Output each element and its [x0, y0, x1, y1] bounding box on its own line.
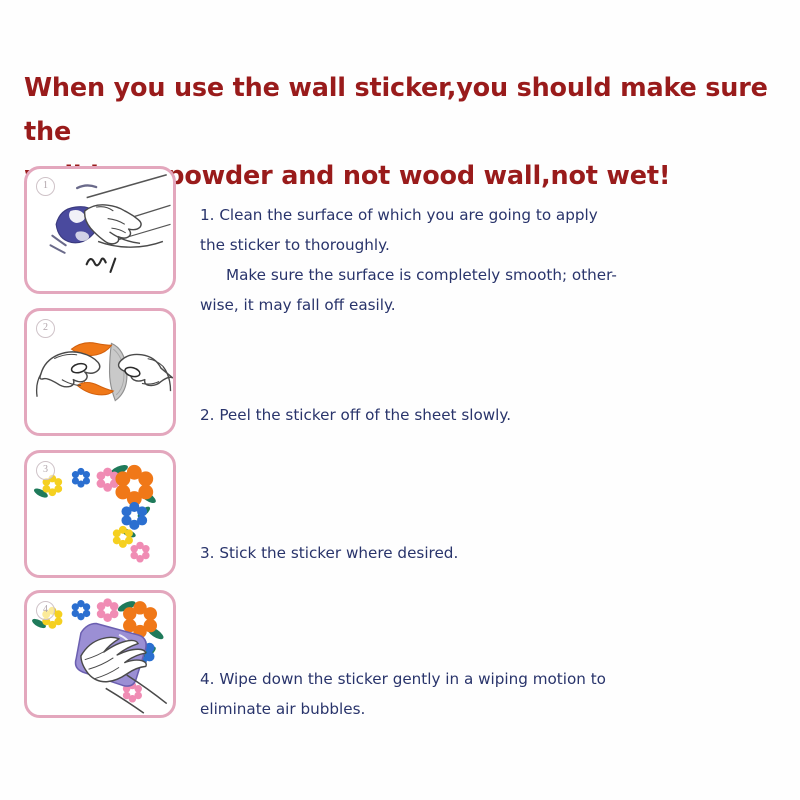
- step-row: 2: [0, 308, 800, 450]
- step-3-text: 3. Stick the sticker where desired.: [200, 450, 800, 568]
- step-2-illustration-panel: 2: [24, 308, 176, 436]
- steps-list: 1: [0, 166, 800, 736]
- step-4-illustration-panel: 4: [24, 590, 176, 718]
- step-panel-slot: 2: [0, 308, 200, 436]
- step-3-number-badge: 3: [36, 461, 55, 480]
- step-row: 3: [0, 450, 800, 590]
- step-4-number-badge: 4: [36, 601, 55, 620]
- step-panel-slot: 1: [0, 166, 200, 294]
- step-1-text-main: 1. Clean the surface of which you are go…: [200, 206, 598, 254]
- step-4-text-main: 4. Wipe down the sticker gently in a wip…: [200, 670, 606, 718]
- step-1-illustration-panel: 1: [24, 166, 176, 294]
- step-2-number-badge: 2: [36, 319, 55, 338]
- step-3-illustration-panel: 3: [24, 450, 176, 578]
- step-panel-slot: 4: [0, 590, 200, 718]
- step-2-text: 2. Peel the sticker off of the sheet slo…: [200, 308, 800, 430]
- instruction-sheet: When you use the wall sticker,you should…: [0, 0, 800, 800]
- step-2-text-main: 2. Peel the sticker off of the sheet slo…: [200, 406, 511, 424]
- step-row: 1: [0, 166, 800, 308]
- step-row: 4: [0, 590, 800, 736]
- step-3-text-main: 3. Stick the sticker where desired.: [200, 544, 458, 562]
- step-4-text: 4. Wipe down the sticker gently in a wip…: [200, 590, 800, 724]
- step-panel-slot: 3: [0, 450, 200, 578]
- step-1-number-badge: 1: [36, 177, 55, 196]
